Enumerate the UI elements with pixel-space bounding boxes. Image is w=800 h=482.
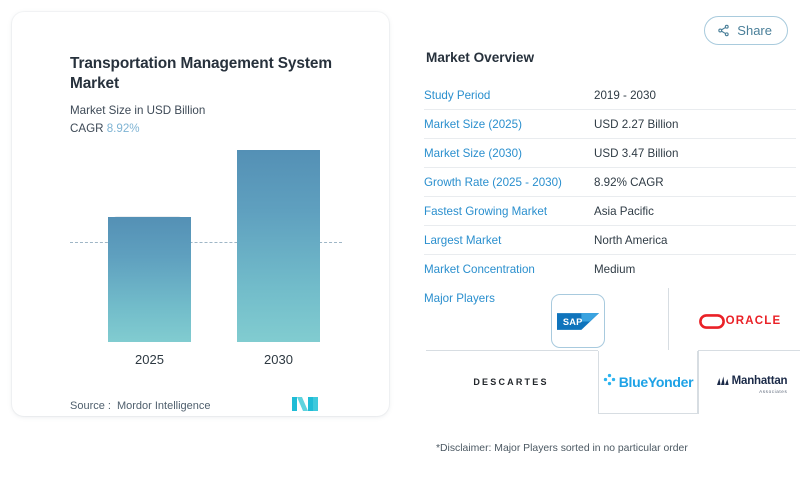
disclaimer-text: *Disclaimer: Major Players sorted in no … bbox=[436, 443, 688, 454]
table-row: Market Concentration Medium bbox=[424, 255, 796, 284]
table-row: Growth Rate (2025 - 2030) 8.92% CAGR bbox=[424, 168, 796, 197]
share-button-label: Share bbox=[737, 23, 772, 38]
manhattan-wordmark: Manhattan bbox=[732, 375, 788, 387]
x-axis-label-2025: 2025 bbox=[108, 352, 191, 367]
row-value: 2019 - 2030 bbox=[594, 89, 656, 102]
grid-divider-vertical-right bbox=[698, 350, 699, 414]
row-label: Fastest Growing Market bbox=[424, 205, 594, 218]
row-label: Market Concentration bbox=[424, 263, 594, 276]
chart-title: Transportation Management System Market bbox=[70, 54, 370, 95]
row-value: Medium bbox=[594, 263, 635, 276]
table-row: Study Period 2019 - 2030 bbox=[424, 81, 796, 110]
row-label: Market Size (2030) bbox=[424, 147, 594, 160]
row-value: USD 2.27 Billion bbox=[594, 118, 678, 131]
blueyonder-box-top-mask bbox=[598, 350, 698, 351]
major-players-label: Major Players bbox=[424, 292, 495, 305]
market-overview-panel: Share Market Overview Study Period 2019 … bbox=[410, 0, 800, 482]
blueyonder-wordmark: BlueYonder bbox=[619, 374, 694, 390]
oracle-wordmark: ORACLE bbox=[726, 315, 782, 327]
bar-chart-plot: USD 2.27 B USD 3.47 B 2025 2030 bbox=[12, 142, 389, 367]
market-overview-table: Study Period 2019 - 2030 Market Size (20… bbox=[424, 81, 796, 284]
blueyonder-mark-icon bbox=[603, 373, 616, 391]
player-logo-sap[interactable]: SAP bbox=[538, 292, 618, 350]
table-row: Fastest Growing Market Asia Pacific bbox=[424, 197, 796, 226]
row-value: 8.92% CAGR bbox=[594, 176, 664, 189]
row-label: Largest Market bbox=[424, 234, 594, 247]
oracle-logo: ORACLE bbox=[699, 314, 782, 329]
bar-2025[interactable] bbox=[108, 217, 191, 342]
row-value: USD 3.47 Billion bbox=[594, 147, 678, 160]
row-label: Growth Rate (2025 - 2030) bbox=[424, 176, 594, 189]
major-players-grid: SAP ORACLE DESCARTES bbox=[530, 292, 800, 414]
chart-cagr: CAGR 8.92% bbox=[70, 122, 140, 135]
grid-divider-vertical-top bbox=[668, 288, 669, 350]
cagr-label: CAGR bbox=[70, 122, 104, 135]
share-button[interactable]: Share bbox=[704, 16, 788, 45]
mordor-intelligence-logo bbox=[292, 395, 318, 418]
row-value: North America bbox=[594, 234, 667, 247]
chart-subtitle: Market Size in USD Billion bbox=[70, 104, 205, 117]
player-logo-blueyonder[interactable]: BlueYonder bbox=[598, 350, 698, 414]
manhattan-subtitle: Associates bbox=[732, 389, 788, 394]
row-label: Study Period bbox=[424, 89, 594, 102]
bar-2030[interactable] bbox=[237, 150, 320, 342]
row-label: Market Size (2025) bbox=[424, 118, 594, 131]
table-row: Market Size (2025) USD 2.27 Billion bbox=[424, 110, 796, 139]
source-name: Mordor Intelligence bbox=[117, 400, 211, 412]
row-value: Asia Pacific bbox=[594, 205, 654, 218]
player-logo-oracle[interactable]: ORACLE bbox=[680, 292, 800, 350]
player-logo-descartes[interactable]: DESCARTES bbox=[426, 350, 596, 414]
oracle-ring-icon bbox=[699, 314, 725, 329]
chart-card: Transportation Management System Market … bbox=[12, 12, 389, 416]
table-row: Market Size (2030) USD 3.47 Billion bbox=[424, 139, 796, 168]
source-row: Source : Mordor Intelligence bbox=[70, 400, 370, 412]
svg-text:SAP: SAP bbox=[563, 316, 583, 326]
descartes-wordmark: DESCARTES bbox=[473, 377, 548, 387]
table-row: Largest Market North America bbox=[424, 226, 796, 255]
market-overview-title: Market Overview bbox=[426, 50, 534, 65]
manhattan-mark-icon bbox=[717, 373, 730, 391]
x-axis-label-2030: 2030 bbox=[237, 352, 320, 367]
source-label: Source : bbox=[70, 400, 111, 412]
sap-logo: SAP bbox=[551, 294, 605, 348]
screenshot-root: Transportation Management System Market … bbox=[0, 0, 800, 482]
share-icon bbox=[717, 24, 730, 37]
player-logo-manhattan[interactable]: Manhattan Associates bbox=[702, 350, 800, 414]
cagr-value: 8.92% bbox=[107, 122, 140, 135]
